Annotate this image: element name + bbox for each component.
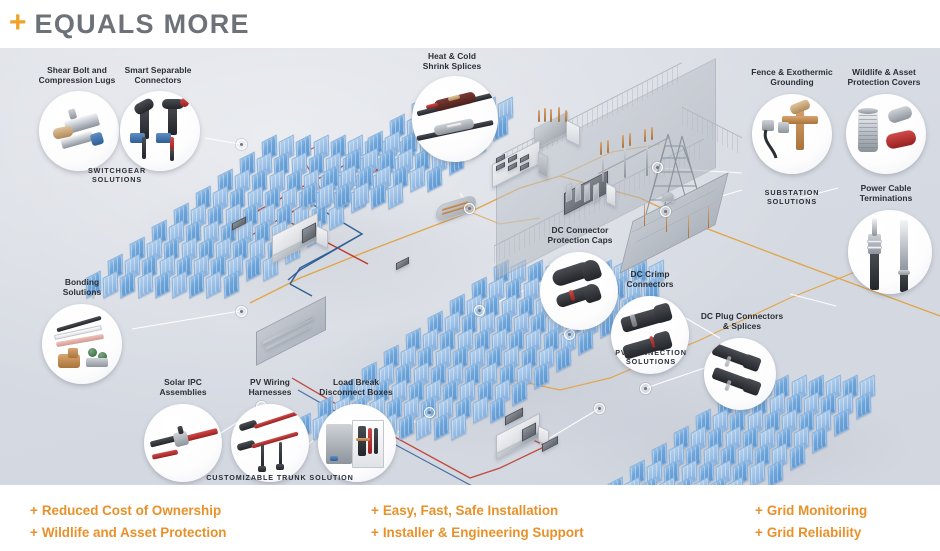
product-bubble[interactable] xyxy=(752,94,832,174)
callout-label: PV Wiring Harnesses xyxy=(232,378,308,398)
benefit-item: +Installer & Engineering Support xyxy=(371,522,584,544)
benefits-footer: +Reduced Cost of Ownership +Wildlife and… xyxy=(0,485,940,551)
callout-marker[interactable] xyxy=(594,403,605,414)
bullet-plus-icon: + xyxy=(755,503,763,518)
benefit-text: Grid Monitoring xyxy=(767,503,867,518)
bullet-plus-icon: + xyxy=(755,525,763,540)
bullet-plus-icon: + xyxy=(30,503,38,518)
product-bubble[interactable] xyxy=(848,210,932,294)
group-label-pv-connection-solutions: PV CONNECTION SOLUTIONS xyxy=(596,348,706,367)
benefit-item: +Easy, Fast, Safe Installation xyxy=(371,500,584,522)
benefits-col-2: +Easy, Fast, Safe Installation +Installe… xyxy=(371,500,584,543)
group-label-substation-solutions: SUBSTATION SOLUTIONS xyxy=(742,188,842,207)
product-bubble[interactable] xyxy=(412,76,498,162)
callout-label: Power Cable Terminations xyxy=(836,184,936,204)
benefit-text: Reduced Cost of Ownership xyxy=(42,503,221,518)
benefits-col-3: +Grid Monitoring +Grid Reliability xyxy=(755,500,867,543)
callout-marker[interactable] xyxy=(640,383,651,394)
bullet-plus-icon: + xyxy=(371,525,379,540)
plus-icon: + xyxy=(9,8,27,38)
bullet-plus-icon: + xyxy=(30,525,38,540)
benefit-item: +Wildlife and Asset Protection xyxy=(30,522,226,544)
bullet-plus-icon: + xyxy=(371,503,379,518)
product-bubble[interactable] xyxy=(704,338,776,410)
benefit-item: +Grid Reliability xyxy=(755,522,867,544)
callout-label: Solar IPC Assemblies xyxy=(142,378,224,398)
product-bubble[interactable] xyxy=(39,91,119,171)
callout-marker[interactable] xyxy=(236,139,247,150)
callout-label: Heat & Cold Shrink Splices xyxy=(404,52,500,72)
callout-marker[interactable] xyxy=(660,206,671,217)
callout-marker[interactable] xyxy=(464,203,475,214)
benefit-text: Wildlife and Asset Protection xyxy=(42,525,227,540)
callout-marker[interactable] xyxy=(474,305,485,316)
group-label-switchgear-solutions: SWITCHGEAR SOLUTIONS xyxy=(62,166,172,185)
callout-label: Bonding Solutions xyxy=(42,278,122,298)
benefit-text: Easy, Fast, Safe Installation xyxy=(383,503,558,518)
product-bubble[interactable] xyxy=(540,252,618,330)
product-bubble[interactable] xyxy=(846,94,926,174)
page-title: EQUALS MORE xyxy=(35,9,250,40)
solar-site-diagram: Shear Bolt and Compression Lugs Smart Se… xyxy=(0,48,940,485)
product-bubble[interactable] xyxy=(144,404,222,482)
benefits-col-1: +Reduced Cost of Ownership +Wildlife and… xyxy=(30,500,226,543)
group-label-customizable-trunk-solution: CUSTOMIZABLE TRUNK SOLUTION xyxy=(170,473,390,482)
callout-marker[interactable] xyxy=(564,329,575,340)
infographic-root: + EQUALS MORE xyxy=(0,0,940,551)
benefit-text: Installer & Engineering Support xyxy=(383,525,584,540)
product-bubble[interactable] xyxy=(231,404,309,482)
substation xyxy=(486,96,766,296)
callout-marker[interactable] xyxy=(652,162,663,173)
callout-label: DC Plug Connectors & Splices xyxy=(690,312,794,332)
benefit-item: +Grid Monitoring xyxy=(755,500,867,522)
callout-marker[interactable] xyxy=(424,407,435,418)
callout-label: Wildlife & Asset Protection Covers xyxy=(830,68,938,88)
callout-marker[interactable] xyxy=(236,306,247,317)
callout-label: DC Crimp Connectors xyxy=(608,270,692,290)
callout-label: Load Break Disconnect Boxes xyxy=(304,378,408,398)
product-bubble[interactable] xyxy=(120,91,200,171)
benefit-text: Grid Reliability xyxy=(767,525,862,540)
product-bubble[interactable] xyxy=(318,404,396,482)
product-bubble[interactable] xyxy=(42,304,122,384)
callout-label: Smart Separable Connectors xyxy=(110,66,206,86)
benefit-item: +Reduced Cost of Ownership xyxy=(30,500,226,522)
header-bar: + EQUALS MORE xyxy=(0,0,940,48)
callout-label: DC Connector Protection Caps xyxy=(528,226,632,246)
